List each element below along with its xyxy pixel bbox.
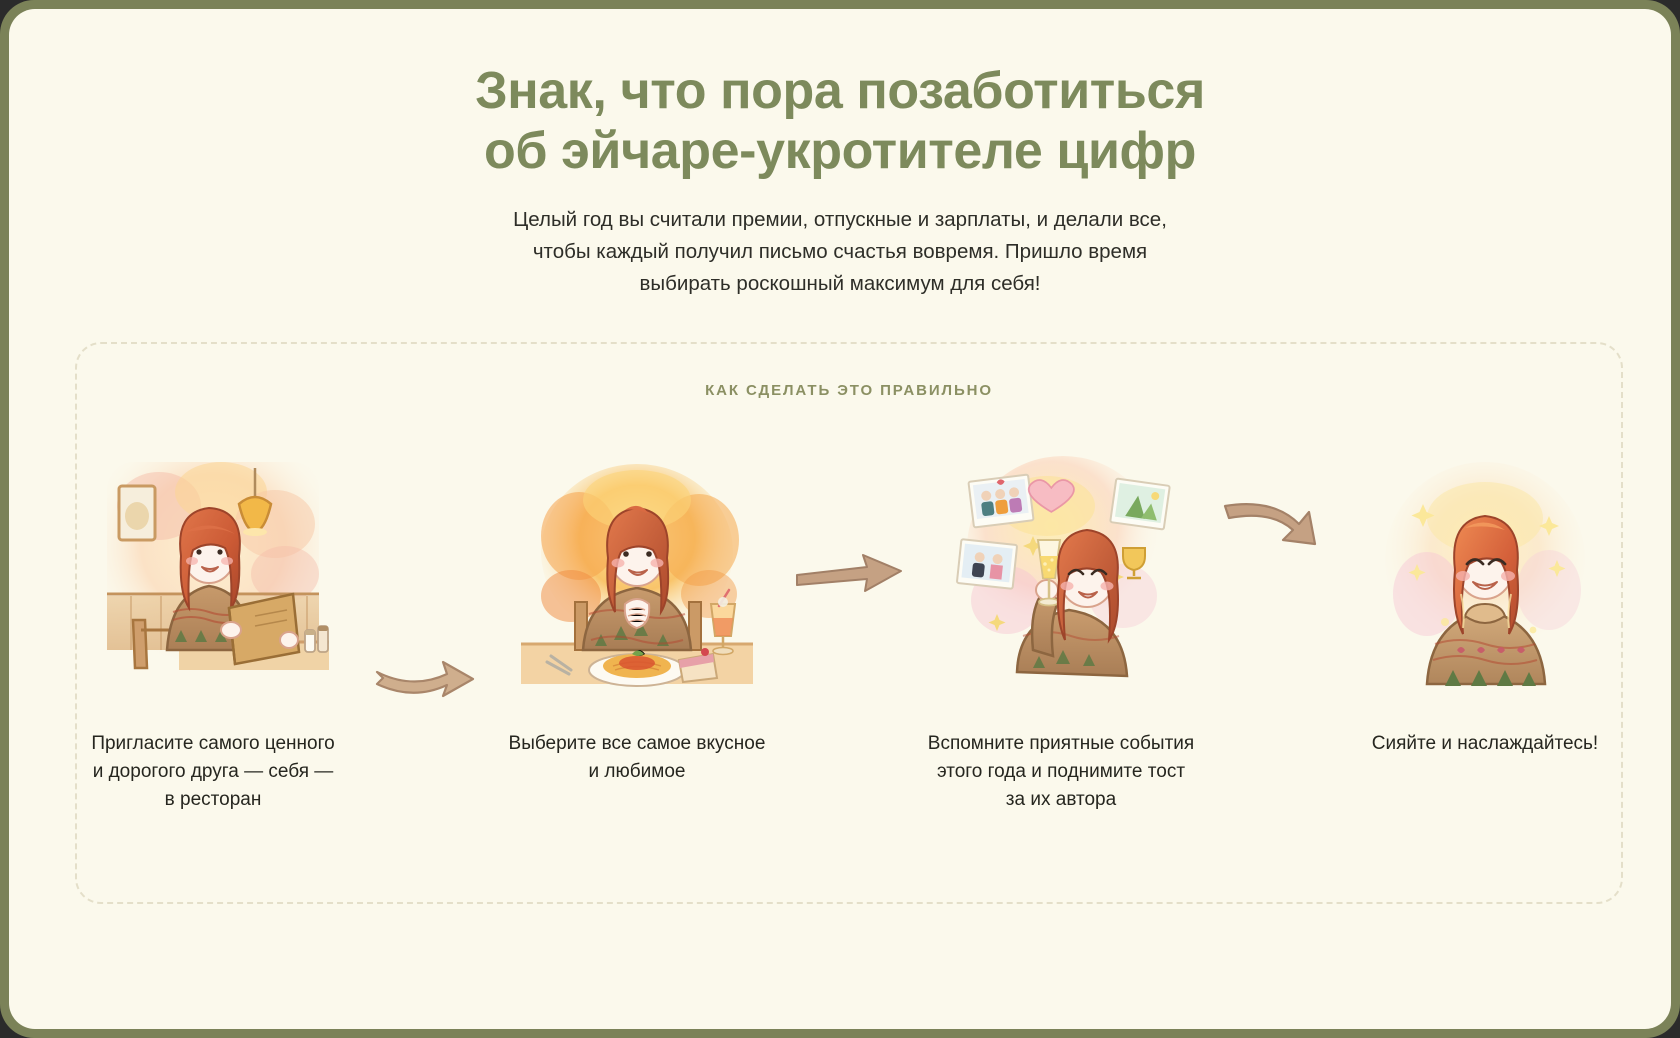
page-subtitle-line-1: Целый год вы считали премии, отпускные и…	[420, 204, 1260, 236]
woman-at-table-with-pasta-and-dessert-illustration	[513, 444, 761, 702]
steps-row: Пригласите самого ценного и дорогого дру…	[77, 444, 1621, 874]
page-canvas: Знак, что пора позаботиться об эйчаре-ук…	[9, 9, 1671, 1029]
step-caption-1: Пригласите самого ценного и дорогого дру…	[65, 730, 361, 814]
step-item-1: Пригласите самого ценного и дорогого дру…	[65, 444, 361, 814]
card-eyebrow-label: КАК СДЕЛАТЬ ЭТО ПРАВИЛЬНО	[77, 382, 1621, 399]
page-title-line-2: об эйчаре-укротителе цифр	[9, 121, 1671, 181]
page-header: Знак, что пора позаботиться об эйчаре-ук…	[9, 61, 1671, 301]
curved-arrow-right-icon	[1209, 444, 1337, 754]
page-title: Знак, что пора позаботиться об эйчаре-ук…	[9, 61, 1671, 182]
step-caption-2-line-1: Выберите все самое вкусное	[489, 730, 785, 758]
woman-raising-champagne-toast-with-photos-illustration	[937, 444, 1185, 702]
how-to-card: КАК СДЕЛАТЬ ЭТО ПРАВИЛЬНО	[75, 342, 1623, 904]
ribbon-arrow-right-icon-2	[785, 444, 913, 742]
step-item-3: Вспомните приятные события этого года и …	[913, 444, 1209, 814]
step-item-2: Выберите все самое вкусное и любимое	[489, 444, 785, 786]
step-caption-3-line-2: этого года и поднимите тост	[913, 758, 1209, 786]
woman-reading-menu-in-restaurant-illustration	[89, 444, 337, 702]
step-caption-3: Вспомните приятные события этого года и …	[913, 730, 1209, 814]
step-caption-1-line-2: и дорогого друга — себя —	[65, 758, 361, 786]
step-caption-3-line-1: Вспомните приятные события	[913, 730, 1209, 758]
step-caption-4: Сияйте и наслаждайтесь!	[1337, 730, 1633, 758]
step-caption-2: Выберите все самое вкусное и любимое	[489, 730, 785, 786]
page-subtitle: Целый год вы считали премии, отпускные и…	[420, 204, 1260, 301]
page-subtitle-line-2: чтобы каждый получил письмо счастья вовр…	[420, 236, 1260, 268]
step-caption-3-line-3: за их автора	[913, 786, 1209, 814]
page-frame: Знак, что пора позаботиться об эйчаре-ук…	[0, 0, 1680, 1038]
step-caption-4-line-1: Сияйте и наслаждайтесь!	[1337, 730, 1633, 758]
glowing-smiling-woman-illustration	[1361, 444, 1609, 702]
ribbon-arrow-right-icon	[361, 444, 489, 724]
page-title-line-1: Знак, что пора позаботиться	[9, 61, 1671, 121]
step-caption-1-line-3: в ресторан	[65, 786, 361, 814]
step-caption-2-line-2: и любимое	[489, 758, 785, 786]
page-subtitle-line-3: выбирать роскошный максимум для себя!	[420, 268, 1260, 300]
step-caption-1-line-1: Пригласите самого ценного	[65, 730, 361, 758]
step-item-4: Сияйте и наслаждайтесь!	[1337, 444, 1633, 758]
